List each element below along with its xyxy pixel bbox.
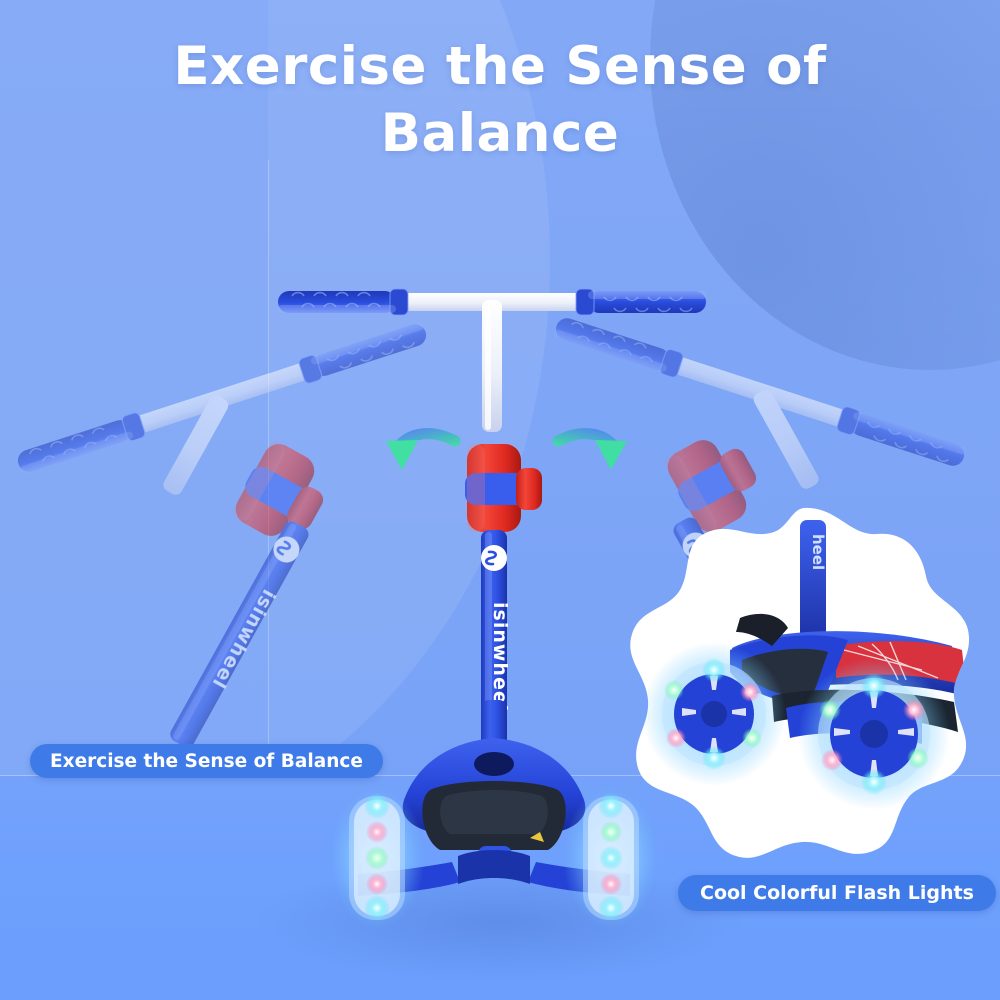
caption-badge-left: Exercise the Sense of Balance — [30, 744, 383, 778]
svg-text:heel: heel — [809, 534, 827, 570]
handlebar-clamp — [465, 444, 542, 532]
handlebar-ghost-left — [14, 320, 429, 752]
curved-arrow-left — [386, 434, 455, 470]
curved-arrow-right — [558, 434, 627, 470]
scooter-deck — [403, 738, 586, 864]
led-wheel-left — [329, 786, 425, 930]
product-marketing-banner: Exercise the Sense of Balance — [0, 0, 1000, 1000]
feature-inset-flash-lights: heel — [622, 500, 982, 868]
caption-badge-right: Cool Colorful Flash Lights — [678, 875, 996, 911]
